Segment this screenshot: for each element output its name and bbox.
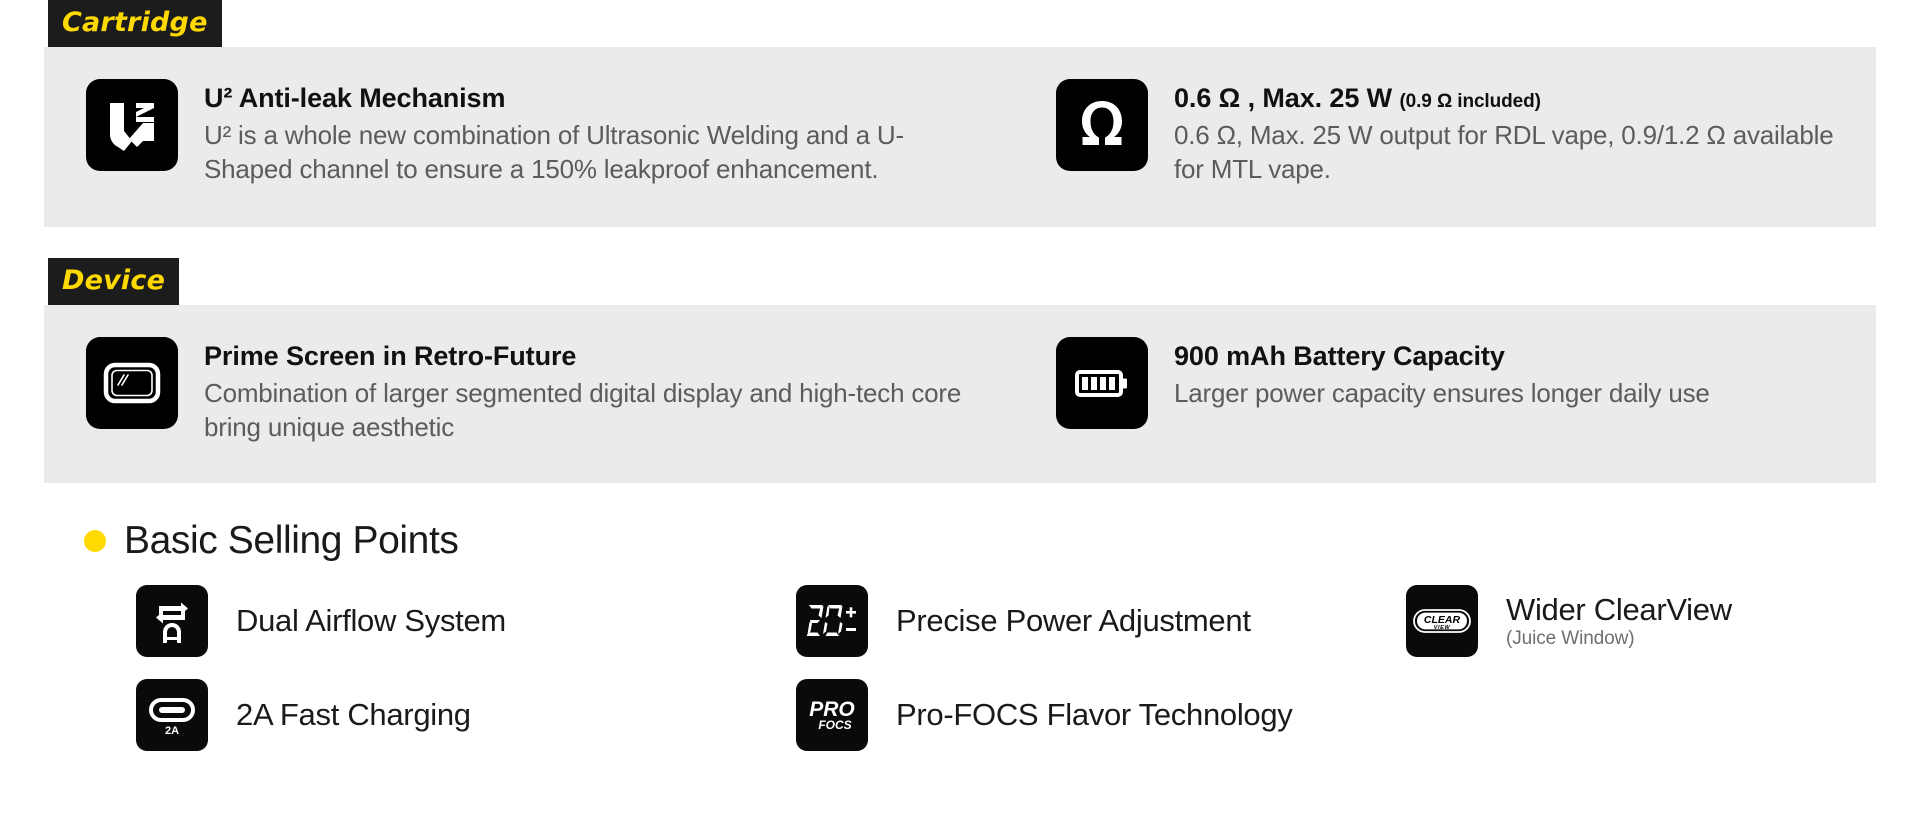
feature-description: 0.6 Ω, Max. 25 W output for RDL vape, 0.… — [1174, 118, 1854, 187]
feature-title-text: 0.6 Ω , Max. 25 W — [1174, 83, 1392, 113]
section-badge-row-cartridge: Cartridge — [48, 0, 1876, 47]
selling-point-clearview: CLEAR VIEW Wider ClearView (Juice Window… — [1406, 585, 1876, 657]
usb-c-icon-text: 2A — [165, 725, 179, 737]
section-badge-device: Device — [48, 258, 179, 305]
selling-point-dual-airflow: Dual Airflow System — [136, 585, 796, 657]
selling-point-label: Wider ClearView (Juice Window) — [1506, 592, 1732, 650]
feature-title: 900 mAh Battery Capacity — [1174, 339, 1710, 374]
feature-title-text: U² Anti-leak Mechanism — [204, 83, 505, 113]
selling-points-title: Basic Selling Points — [124, 519, 459, 563]
dual-airflow-icon — [136, 585, 208, 657]
feature-text-block: U² Anti-leak Mechanism U² is a whole new… — [204, 79, 964, 186]
feature-title-text: Prime Screen in Retro-Future — [204, 341, 576, 371]
screen-display-icon — [86, 337, 178, 429]
selling-point-sublabel: (Juice Window) — [1506, 628, 1732, 650]
feature-title: U² Anti-leak Mechanism — [204, 81, 964, 116]
feature-description: U² is a whole new combination of Ultraso… — [204, 118, 964, 187]
selling-point-label: 2A Fast Charging — [236, 697, 471, 733]
selling-point-label: Precise Power Adjustment — [896, 603, 1251, 639]
selling-point-fast-charging: 2A 2A Fast Charging — [136, 679, 796, 751]
feature-title: Prime Screen in Retro-Future — [204, 339, 964, 374]
feature-prime-screen: Prime Screen in Retro-Future Combination… — [44, 337, 1044, 449]
selling-points-header: Basic Selling Points — [84, 519, 1876, 563]
feature-battery-capacity: 900 mAh Battery Capacity Larger power ca… — [1044, 337, 1874, 449]
cartridge-panel: U² Anti-leak Mechanism U² is a whole new… — [44, 47, 1876, 227]
feature-ohm-output: 0.6 Ω , Max. 25 W (0.9 Ω included) 0.6 Ω… — [1044, 79, 1874, 193]
selling-points-grid: Dual Airflow System — [136, 585, 1876, 751]
clearview-icon: CLEAR VIEW — [1406, 585, 1478, 657]
selling-point-pro-focs: PRO FOCS Pro-FOCS Flavor Technology — [796, 679, 1406, 751]
pro-focs-icon-text-bottom: FOCS — [818, 718, 851, 732]
bullet-dot-icon — [84, 530, 106, 552]
selling-point-power-adjustment: Precise Power Adjustment — [796, 585, 1406, 657]
u2-anti-leak-icon — [86, 79, 178, 171]
selling-point-label-text: Wider ClearView — [1506, 592, 1732, 627]
feature-text-block: 900 mAh Battery Capacity Larger power ca… — [1174, 337, 1710, 410]
section-badge-cartridge: Cartridge — [48, 0, 222, 47]
feature-description: Larger power capacity ensures longer dai… — [1174, 376, 1710, 410]
power-adjust-icon — [796, 585, 868, 657]
feature-title-note: (0.9 Ω included) — [1399, 91, 1540, 112]
product-feature-sheet: Cartridge U² Anti-leak Mechanism — [0, 0, 1920, 835]
feature-text-block: 0.6 Ω , Max. 25 W (0.9 Ω included) 0.6 Ω… — [1174, 79, 1854, 186]
ohm-resistance-icon — [1056, 79, 1148, 171]
feature-description: Combination of larger segmented digital … — [204, 376, 964, 445]
feature-text-block: Prime Screen in Retro-Future Combination… — [204, 337, 964, 444]
feature-title: 0.6 Ω , Max. 25 W (0.9 Ω included) — [1174, 81, 1854, 116]
section-badge-row-device: Device — [48, 258, 1876, 305]
feature-title-text: 900 mAh Battery Capacity — [1174, 341, 1505, 371]
clearview-icon-text-bottom: VIEW — [1434, 625, 1451, 631]
battery-icon — [1056, 337, 1148, 429]
selling-point-label: Pro-FOCS Flavor Technology — [896, 697, 1293, 733]
usb-c-fast-charge-icon: 2A — [136, 679, 208, 751]
device-panel: Prime Screen in Retro-Future Combination… — [44, 305, 1876, 483]
selling-point-label: Dual Airflow System — [236, 603, 506, 639]
feature-u2-anti-leak: U² Anti-leak Mechanism U² is a whole new… — [44, 79, 1044, 193]
pro-focs-icon: PRO FOCS — [796, 679, 868, 751]
